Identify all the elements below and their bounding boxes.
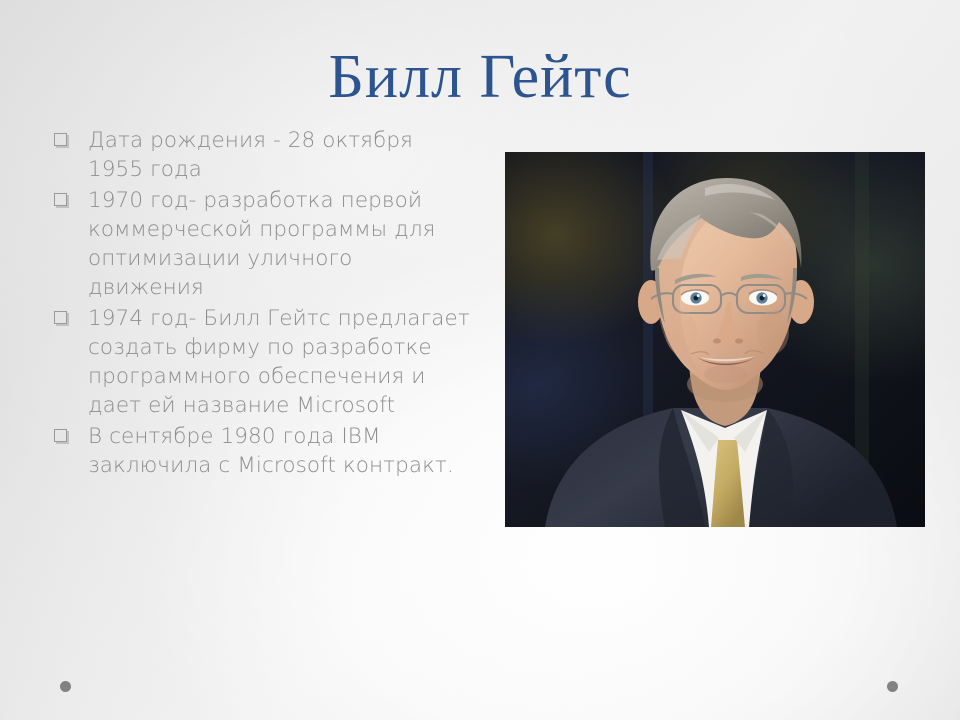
list-item: 1974 год- Билл Гейтс предлагает создать … — [42, 304, 472, 420]
square-bullet-icon — [54, 133, 67, 146]
bill-gates-portrait-photo — [505, 152, 925, 527]
list-item-text: Дата рождения - 28 октября 1955 года — [88, 128, 413, 182]
square-bullet-icon — [54, 311, 67, 324]
page-title: Билл Гейтс — [0, 44, 960, 110]
list-item: 1970 год- разработка первой коммерческой… — [42, 186, 472, 302]
list-item-text: 1974 год- Билл Гейтс предлагает создать … — [88, 306, 470, 418]
list-item: Дата рождения - 28 октября 1955 года — [42, 126, 472, 184]
bullet-list: Дата рождения - 28 октября 1955 года 197… — [42, 126, 472, 482]
portrait-illustration — [505, 152, 925, 527]
presentation-slide: Билл Гейтс Дата рождения - 28 октября 19… — [0, 0, 960, 720]
list-item: В сентябре 1980 года IBM заключила с Mic… — [42, 422, 472, 480]
list-item-text: 1970 год- разработка первой коммерческой… — [88, 188, 436, 300]
square-bullet-icon — [54, 193, 67, 206]
square-bullet-icon — [54, 429, 67, 442]
bottom-left-dot — [60, 681, 71, 692]
bottom-right-dot — [887, 681, 898, 692]
list-item-text: В сентябре 1980 года IBM заключила с Mic… — [88, 424, 454, 478]
